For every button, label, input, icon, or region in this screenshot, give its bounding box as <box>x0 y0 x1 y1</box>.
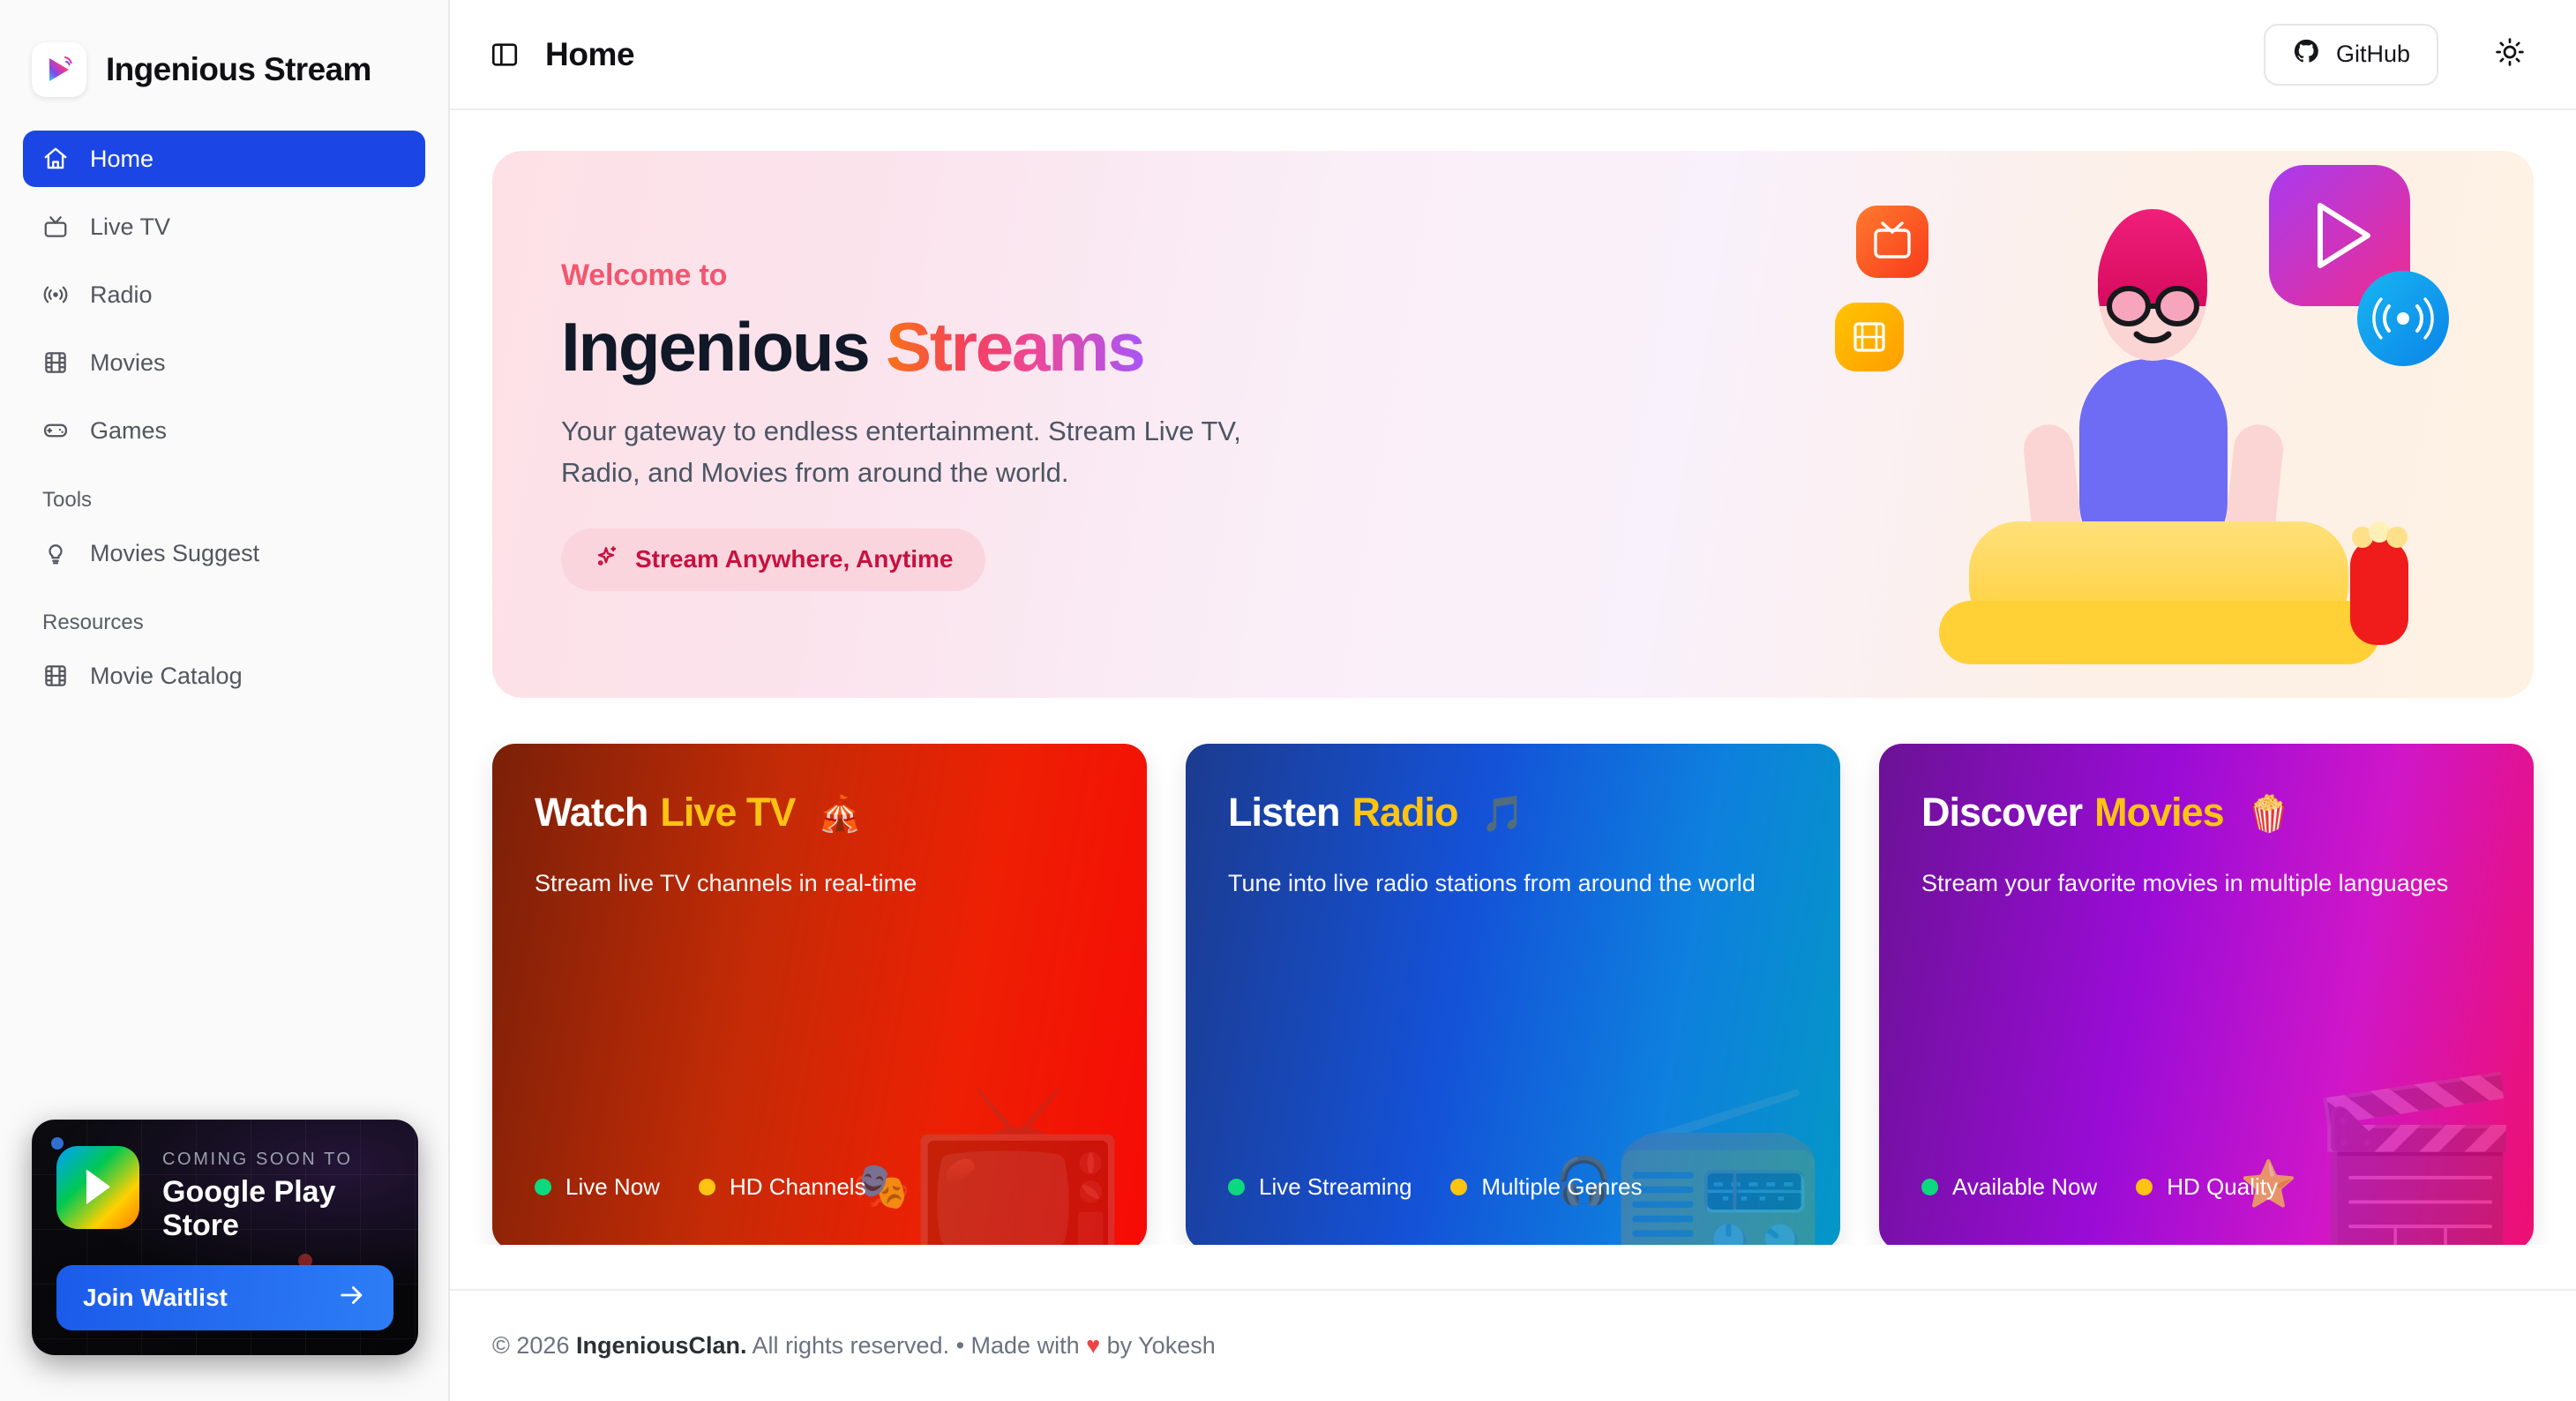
main-area: Home GitHub Welcome to Ingeniou <box>450 0 2576 1401</box>
clapper-emoji: 🎬 <box>2305 1081 2525 1244</box>
hero-subtitle: Your gateway to endless entertainment. S… <box>561 410 1311 493</box>
card-tag: Available Now <box>1921 1173 2097 1201</box>
join-waitlist-label: Join Waitlist <box>83 1284 228 1312</box>
sparkles-icon <box>593 543 619 576</box>
music-note-emoji: 🎵 <box>1481 793 1524 835</box>
footer: © 2026 IngeniousClan. All rights reserve… <box>450 1289 2576 1401</box>
card-title-plain: Listen <box>1228 790 1340 835</box>
app-root: Ingenious Stream Home Live TV Radio <box>0 0 2576 1401</box>
card-tag: Multiple Genres <box>1450 1173 1642 1201</box>
card-tag: Live Streaming <box>1228 1173 1412 1201</box>
card-title-accent: Radio <box>1352 790 1458 835</box>
sidebar-section-tools: Tools <box>23 470 425 525</box>
footer-rights: All rights reserved. • Made with <box>746 1332 1086 1359</box>
card-tag: HD Quality <box>2136 1173 2278 1201</box>
hero-badge-pill[interactable]: Stream Anywhere, Anytime <box>561 528 985 591</box>
card-title-plain: Watch <box>535 790 648 835</box>
sidebar-item-home[interactable]: Home <box>23 131 425 187</box>
sidebar-nav: Home Live TV Radio Movies <box>0 115 448 715</box>
app-logo-icon <box>32 42 86 97</box>
card-description: Tune into live radio stations from aroun… <box>1228 865 1775 902</box>
gamepad-icon <box>42 417 69 444</box>
film-icon <box>42 663 69 689</box>
card-movies[interactable]: 🎬 ⭐ Discover Movies 🍿 Stream your favori… <box>1879 744 2534 1244</box>
radio-icon <box>42 281 69 308</box>
sidebar-item-live-tv[interactable]: Live TV <box>23 199 425 255</box>
card-tag: Live Now <box>535 1173 660 1201</box>
sidebar-item-movies[interactable]: Movies <box>23 334 425 391</box>
sidebar-item-radio[interactable]: Radio <box>23 266 425 323</box>
card-tag-label: Live Now <box>565 1173 660 1201</box>
play-store-promo-card[interactable]: COMING SOON TO Google Play Store Join Wa… <box>32 1120 418 1355</box>
card-title: Watch Live TV 🎪 <box>535 790 1105 835</box>
theme-toggle-button[interactable] <box>2481 26 2539 84</box>
sidebar-item-label: Movie Catalog <box>90 663 243 690</box>
popcorn-emoji: 🍿 <box>2247 793 2290 835</box>
tent-emoji: 🎪 <box>818 793 861 835</box>
footer-author: by Yokesh <box>1100 1332 1216 1359</box>
card-title-accent: Live TV <box>660 790 795 835</box>
footer-brand: IngeniousClan. <box>576 1332 747 1359</box>
card-description: Stream your favorite movies in multiple … <box>1921 865 2468 902</box>
promo-title: Google Play Store <box>162 1175 383 1242</box>
tv-emoji: 📺 <box>908 1084 1127 1244</box>
heart-icon: ♥ <box>1086 1332 1100 1359</box>
film-badge <box>1835 303 1904 371</box>
github-label: GitHub <box>2336 41 2410 68</box>
card-tag-label: Live Streaming <box>1259 1173 1412 1201</box>
hero-illustration <box>1828 151 2498 698</box>
panel-left-icon[interactable] <box>487 37 522 72</box>
card-description: Stream live TV channels in real-time <box>535 865 1082 902</box>
card-tag-label: HD Channels <box>730 1173 866 1201</box>
hero-title-accent: Streams <box>886 308 1143 386</box>
brand-name: Ingenious Stream <box>106 51 371 88</box>
lightbulb-icon <box>42 540 69 566</box>
card-tags: Live Now HD Channels <box>535 1173 866 1201</box>
home-icon <box>42 146 69 172</box>
sidebar-item-label: Radio <box>90 281 153 309</box>
hero-banner: Welcome to Ingenious Streams Your gatewa… <box>492 151 2534 698</box>
card-tag-label: HD Quality <box>2167 1173 2278 1201</box>
github-button[interactable]: GitHub <box>2264 24 2438 86</box>
radio-badge <box>2357 271 2449 366</box>
card-title: Discover Movies 🍿 <box>1921 790 2491 835</box>
sidebar-item-label: Home <box>90 146 154 173</box>
card-live-tv[interactable]: 📺 🎭 Watch Live TV 🎪 Stream live TV chann… <box>492 744 1147 1244</box>
sidebar-item-label: Games <box>90 417 167 445</box>
card-radio[interactable]: 📻 🎧 Listen Radio 🎵 Tune into live radio … <box>1186 744 1840 1244</box>
card-title-plain: Discover <box>1921 790 2082 835</box>
card-tags: Live Streaming Multiple Genres <box>1228 1173 1643 1201</box>
brand[interactable]: Ingenious Stream <box>0 0 448 115</box>
film-icon <box>42 349 69 376</box>
sidebar-item-games[interactable]: Games <box>23 402 425 459</box>
card-tag-label: Multiple Genres <box>1481 1173 1642 1201</box>
github-icon <box>2292 37 2320 71</box>
footer-copyright: © 2026 <box>492 1332 576 1359</box>
hero-badge-label: Stream Anywhere, Anytime <box>635 545 954 573</box>
card-title: Listen Radio 🎵 <box>1228 790 1798 835</box>
sun-icon <box>2494 36 2526 72</box>
join-waitlist-button[interactable]: Join Waitlist <box>56 1265 393 1330</box>
hero-text-block: Welcome to Ingenious Streams Your gatewa… <box>492 258 1586 591</box>
sidebar-item-movies-suggest[interactable]: Movies Suggest <box>23 525 425 581</box>
tv-badge <box>1856 206 1928 278</box>
radio-emoji: 📻 <box>1608 1083 1828 1244</box>
sidebar: Ingenious Stream Home Live TV Radio <box>0 0 450 1401</box>
tv-icon <box>42 214 69 240</box>
hero-title: Ingenious Streams <box>561 311 1586 384</box>
feature-cards: 📺 🎭 Watch Live TV 🎪 Stream live TV chann… <box>492 744 2534 1244</box>
google-play-icon <box>56 1146 139 1229</box>
card-title-accent: Movies <box>2094 790 2224 835</box>
sidebar-item-label: Movies Suggest <box>90 540 259 567</box>
card-tags: Available Now HD Quality <box>1921 1173 2278 1201</box>
promo-kicker: COMING SOON TO <box>162 1150 383 1170</box>
card-tag-label: Available Now <box>1952 1173 2097 1201</box>
sidebar-item-label: Live TV <box>90 214 170 241</box>
footer-text: © 2026 IngeniousClan. All rights reserve… <box>492 1332 1216 1360</box>
card-tag: HD Channels <box>699 1173 866 1201</box>
sidebar-item-label: Movies <box>90 349 166 377</box>
hero-welcome: Welcome to <box>561 258 1586 293</box>
hero-title-plain: Ingenious <box>561 308 869 386</box>
sidebar-section-resources: Resources <box>23 593 425 648</box>
arrow-right-icon <box>337 1280 367 1316</box>
page-title: Home <box>545 36 634 73</box>
topbar: Home GitHub <box>450 0 2576 110</box>
page-content: Welcome to Ingenious Streams Your gatewa… <box>450 110 2576 1244</box>
sidebar-item-movie-catalog[interactable]: Movie Catalog <box>23 648 425 704</box>
